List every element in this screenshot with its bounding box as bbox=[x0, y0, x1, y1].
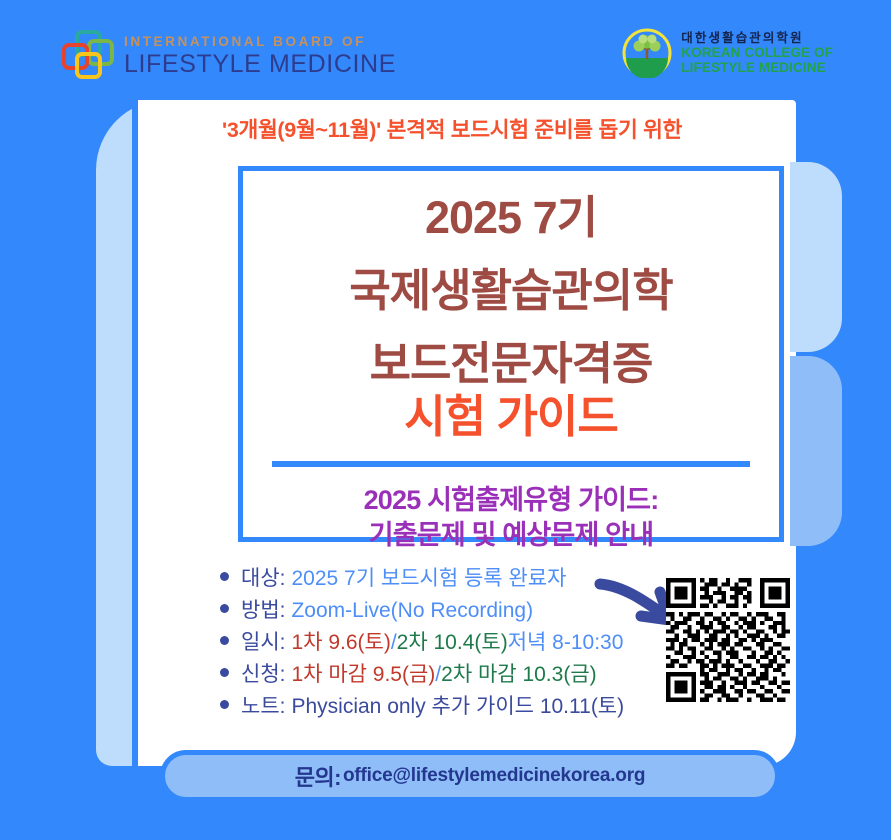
bullet-value-deadline1: 1차 마감 9.5(금) bbox=[291, 658, 435, 688]
list-item: 신청: 1차 마감 9.5(금) / 2차 마감 10.3(금) bbox=[220, 658, 700, 690]
bullet-label: 신청: bbox=[241, 658, 285, 688]
bullet-value-deadline2: 2차 마감 10.3(금) bbox=[441, 658, 597, 688]
bullet-label: 대상: bbox=[241, 562, 285, 592]
kclm-logo: 대한생활습관의학원 KOREAN COLLEGE OF LIFESTYLE ME… bbox=[622, 28, 833, 78]
bullet-icon bbox=[220, 604, 229, 613]
bullet-label: 노트: bbox=[241, 690, 285, 720]
title-line-2: 국제생활습관의학 bbox=[243, 264, 779, 317]
bullet-value-session1: 1차 9.6(토) bbox=[291, 626, 390, 656]
bullet-value: Physician only 추가 가이드 10.11(토) bbox=[291, 690, 624, 720]
title-line-3: 보드전문자격증 bbox=[243, 337, 779, 390]
bullet-label: 일시: bbox=[241, 626, 285, 656]
bullet-value-session2: 2차 10.4(토) bbox=[397, 626, 508, 656]
title-divider bbox=[272, 461, 750, 467]
contact-label: 문의: bbox=[295, 760, 341, 792]
binder-card: '3개월(9월~11월)' 본격적 보드시험 준비를 돕기 위한 2025 7기… bbox=[96, 100, 796, 800]
tagline: '3개월(9월~11월)' 본격적 보드시험 준비를 돕기 위한 bbox=[222, 113, 782, 144]
qr-code[interactable] bbox=[666, 578, 790, 702]
subtitle-line-1: 2025 시험출제유형 가이드: bbox=[243, 483, 779, 518]
bullet-icon bbox=[220, 668, 229, 677]
bullet-icon bbox=[220, 636, 229, 645]
title-line-1: 2025 7기 bbox=[243, 191, 779, 244]
ibl-logo-title: LIFESTYLE MEDICINE bbox=[124, 52, 396, 77]
bullet-icon bbox=[220, 700, 229, 709]
list-item: 노트: Physician only 추가 가이드 10.11(토) bbox=[220, 690, 700, 722]
ibl-logo-subtitle: INTERNATIONAL BOARD OF bbox=[124, 35, 396, 49]
title-line-4: 시험 가이드 bbox=[243, 390, 779, 443]
bullet-icon bbox=[220, 572, 229, 581]
kclm-logo-korean: 대한생활습관의학원 bbox=[681, 31, 833, 45]
binder-tab-top bbox=[790, 162, 842, 352]
bullet-value: 2025 7기 보드시험 등록 완료자 bbox=[291, 562, 566, 592]
title-box: 2025 7기 국제생활습관의학 보드전문자격증 시험 가이드 2025 시험출… bbox=[238, 166, 784, 542]
contact-bar: 문의: office@lifestylemedicinekorea.org bbox=[160, 750, 780, 802]
kclm-logo-english-line2: LIFESTYLE MEDICINE bbox=[681, 60, 833, 75]
poster-header: INTERNATIONAL BOARD OF LIFESTYLE MEDICIN… bbox=[0, 0, 891, 100]
binder-tab-bottom bbox=[790, 356, 842, 546]
contact-email[interactable]: office@lifestylemedicinekorea.org bbox=[343, 765, 645, 787]
bullet-value: Zoom-Live(No Recording) bbox=[291, 599, 533, 623]
interlocking-squares-icon bbox=[62, 30, 114, 82]
ibl-logo: INTERNATIONAL BOARD OF LIFESTYLE MEDICIN… bbox=[62, 30, 396, 82]
tree-emblem-icon bbox=[622, 28, 672, 78]
subtitle-line-2: 기출문제 및 예상문제 안내 bbox=[243, 518, 779, 553]
binder-page: '3개월(9월~11월)' 본격적 보드시험 준비를 돕기 위한 2025 7기… bbox=[132, 100, 796, 766]
kclm-logo-english-line1: KOREAN COLLEGE OF bbox=[681, 45, 833, 60]
bullet-label: 방법: bbox=[241, 594, 285, 624]
